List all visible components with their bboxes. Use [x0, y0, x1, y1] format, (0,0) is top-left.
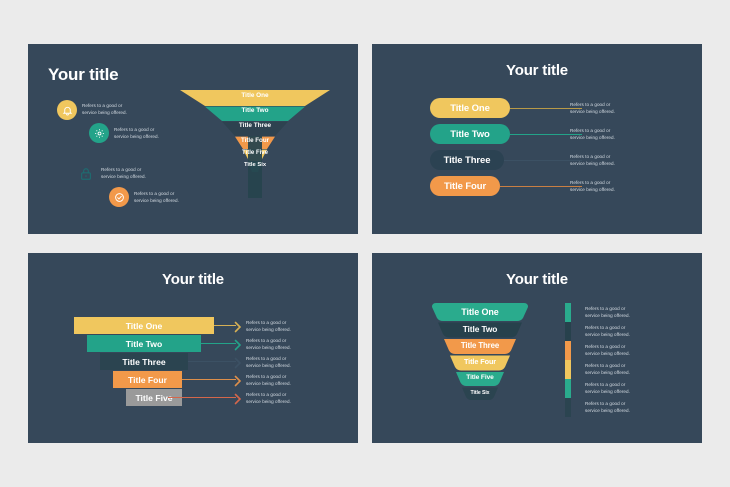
- slide-border: [28, 253, 358, 443]
- slide-border: [372, 253, 702, 443]
- slide-stepped-bars[interactable]: Your title Title One Refers to a good or…: [28, 253, 358, 443]
- slide-segmented-funnel[interactable]: Your title Title One Title Two Title Thr…: [372, 253, 702, 443]
- slide-border: [28, 44, 358, 234]
- slide-deck: Your title Title One Title Two Title Thr…: [0, 0, 730, 487]
- slide-border: [372, 44, 702, 234]
- slide-rounded-bars[interactable]: Your title Title One Refers to a good or…: [372, 44, 702, 234]
- slide-funnel-with-icons[interactable]: Your title Title One Title Two Title Thr…: [28, 44, 358, 234]
